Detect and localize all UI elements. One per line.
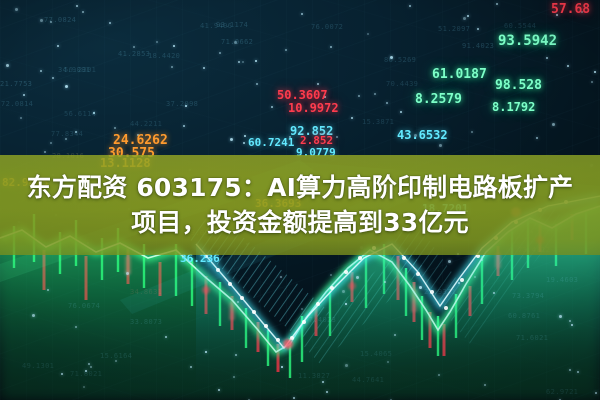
headline-line-2: 项目，投资金额提高到33亿元 — [131, 206, 469, 239]
headline-text-block: 东方配资 603175：AI算力高阶印制电路板扩产 项目，投资金额提高到33亿元 — [0, 155, 600, 255]
headline-line-1: 东方配资 603175：AI算力高阶印制电路板扩产 — [27, 171, 574, 204]
news-banner-image: 77.082441.285334.908193.117418.442056.23… — [0, 0, 600, 400]
